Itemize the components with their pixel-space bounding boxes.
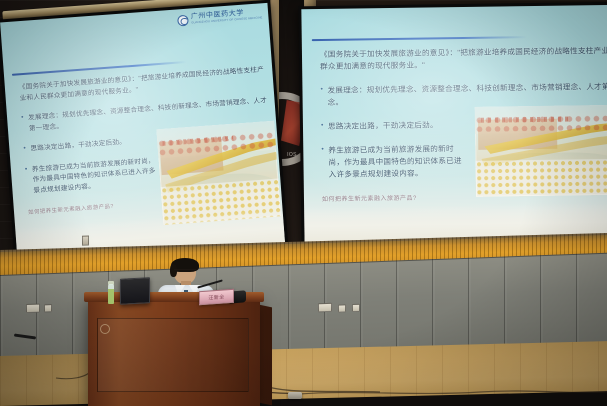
glasses-icon xyxy=(174,269,196,273)
lecture-hall-photo: IOS 广州中医药大学 GUANGZHOU UNIVERSITY OF CHIN… xyxy=(0,0,607,406)
slide-accent-line-right xyxy=(312,36,527,41)
podium-dentil-moulding xyxy=(88,306,260,312)
slide-bullet-3-right: 养生旅游已成为当前旅游发展的新时尚，作为最具中国特色的知识体系已进入许多景点规划… xyxy=(321,143,463,181)
slide-bullet-3-left: 养生旅游已成为当前旅游发展的新时尚，作为最具中国特色的知识体系已进入许多景点规划… xyxy=(25,156,162,197)
screen-right-frame: 《国务院关于加快发展旅游业的意见》："把旅游业培养成国民经济的战略性支柱产业和人… xyxy=(298,2,607,249)
podium xyxy=(88,298,260,406)
wall-plate-1 xyxy=(82,236,89,246)
projector-screen-right: 《国务院关于加快发展旅游业的意见》："把旅游业培养成国民经济的战略性支柱产业和人… xyxy=(298,2,607,253)
projector-screen-left: 广州中医药大学 GUANGZHOU UNIVERSITY OF CHINESE … xyxy=(0,0,283,280)
university-seal-icon xyxy=(177,14,189,26)
cable-connector xyxy=(288,392,302,399)
university-logo-left: 广州中医药大学 GUANGZHOU UNIVERSITY OF CHINESE … xyxy=(177,8,263,26)
slide-quote-right: 《国务院关于加快发展旅游业的意见》："把旅游业培养成国民经济的战略性支柱产业和人… xyxy=(320,45,607,73)
slide-right: 《国务院关于加快发展旅游业的意见》："把旅游业培养成国民经济的战略性支柱产业和人… xyxy=(301,5,607,243)
nameplate-text: 汪新全 xyxy=(208,293,224,301)
slide-photo-right xyxy=(475,105,607,197)
speaker-nameplate: 汪新全 xyxy=(199,289,234,305)
water-bottle xyxy=(108,284,114,304)
podium-front-panel xyxy=(97,318,249,392)
laptop xyxy=(120,277,150,305)
screen-left-frame: 广州中医药大学 GUANGZHOU UNIVERSITY OF CHINESE … xyxy=(0,0,289,271)
slide-left: 广州中医药大学 GUANGZHOU UNIVERSITY OF CHINESE … xyxy=(0,3,285,264)
podium-crest-icon xyxy=(100,324,110,334)
